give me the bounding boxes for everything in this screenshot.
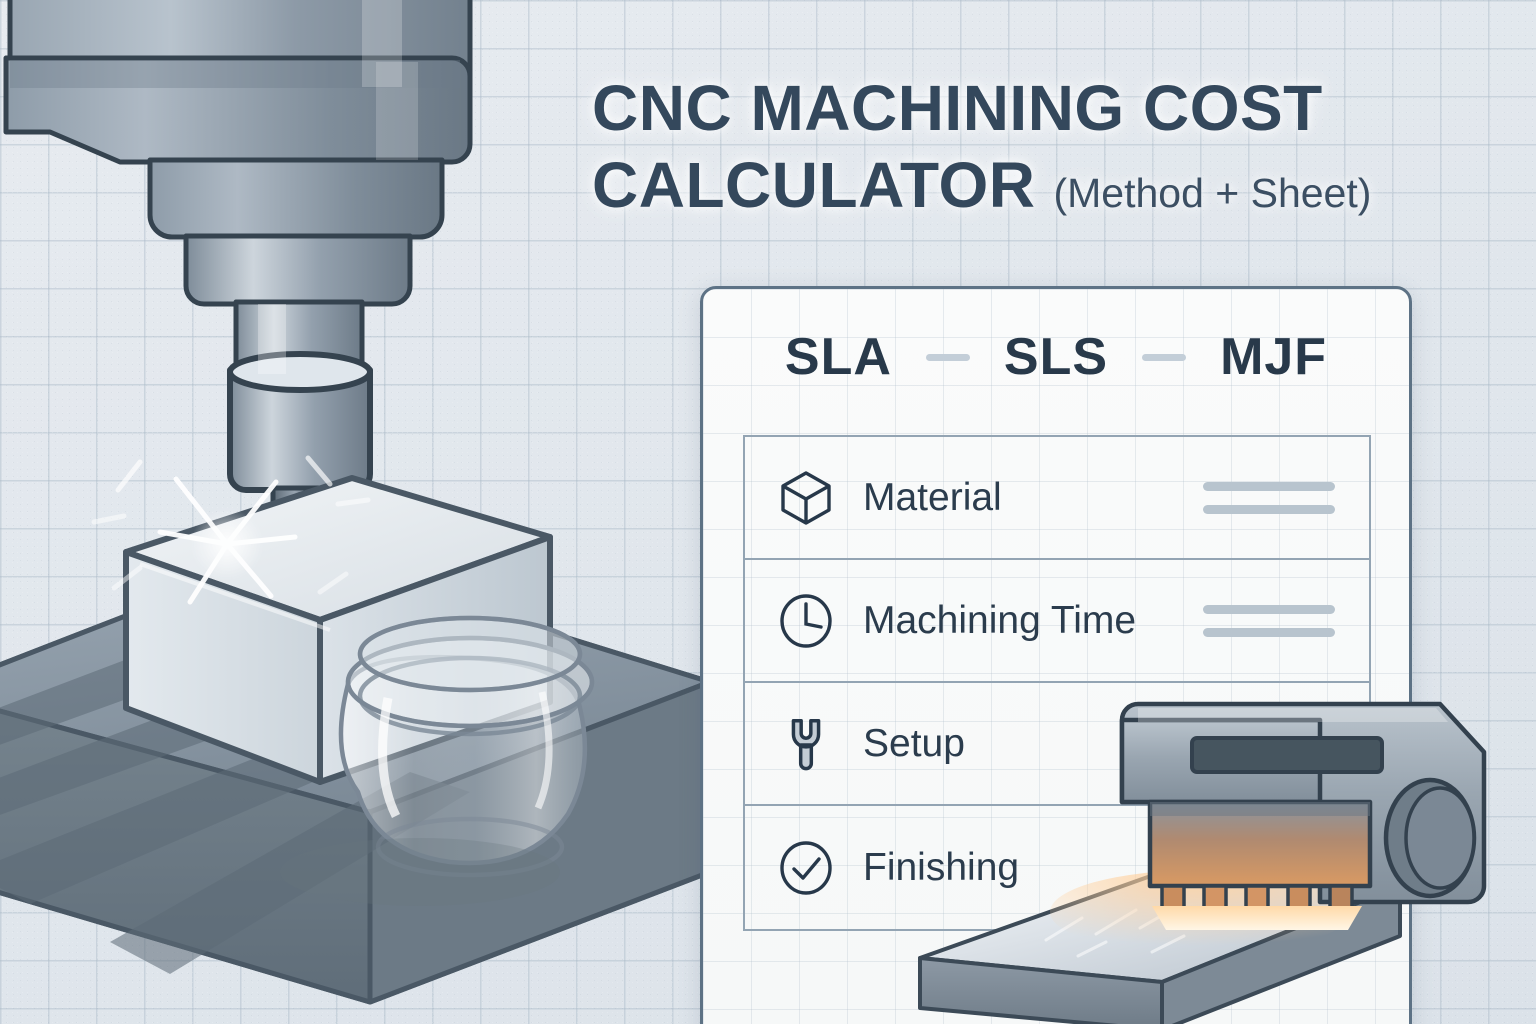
mjf-print-head-illustration — [900, 690, 1536, 1024]
row-label: Machining Time — [863, 599, 1136, 643]
method-sls[interactable]: SLS — [1004, 327, 1108, 387]
wrench-icon — [775, 713, 837, 775]
value-placeholder — [1203, 605, 1335, 637]
check-circle-icon — [775, 837, 837, 899]
method-separator-dash — [1142, 354, 1186, 361]
clock-icon — [775, 590, 837, 652]
table-row[interactable]: Material — [745, 437, 1369, 560]
spindle-head — [6, 0, 470, 490]
title-line-2: CALCULATOR — [592, 155, 1035, 216]
jar-shadow — [280, 838, 560, 906]
print-head — [1122, 704, 1484, 930]
table-row[interactable]: Machining Time — [745, 560, 1369, 683]
method-header: SLA SLS MJF — [703, 327, 1409, 387]
title-line-1: CNC MACHINING COST — [592, 78, 1462, 139]
value-placeholder — [1203, 482, 1335, 514]
row-label: Material — [863, 476, 1002, 520]
title-subtitle: (Method + Sheet) — [1053, 174, 1371, 213]
page-title: CNC MACHINING COST CALCULATOR (Method + … — [592, 78, 1462, 217]
method-sla[interactable]: SLA — [785, 327, 892, 387]
method-separator-dash — [926, 354, 970, 361]
cube-icon — [775, 467, 837, 529]
illustration-canvas: CNC MACHINING COST CALCULATOR (Method + … — [0, 0, 1536, 1024]
method-mjf[interactable]: MJF — [1220, 327, 1327, 387]
